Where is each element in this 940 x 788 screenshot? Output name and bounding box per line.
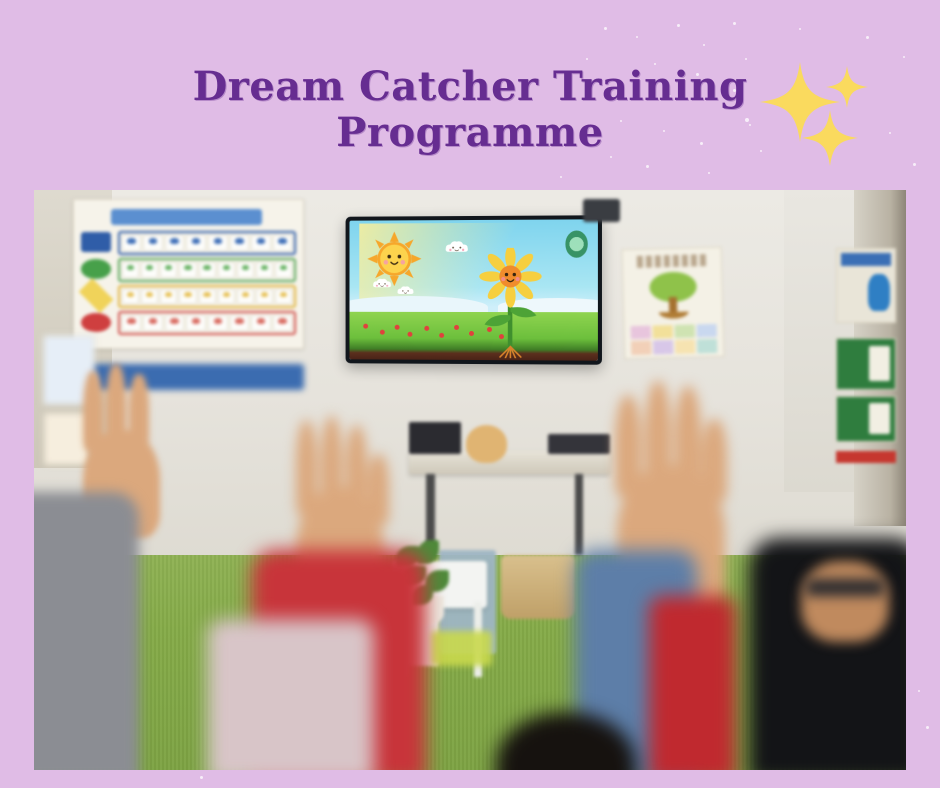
desk-monitor [409,422,461,454]
poster-canvas: Dream Catcher Training Programme [0,0,940,788]
poster-title: Dream Catcher Training Programme [0,64,940,156]
right-poster-1 [836,248,895,323]
chart-badge-yellow [79,278,114,313]
right-poster-2 [836,338,895,390]
desk-leg-right [575,474,584,555]
wall-mounted-tv [345,215,602,364]
teddy-bear [466,425,508,463]
foreground-red-sleeve-right [649,596,736,770]
title-line-2: Programme [0,110,940,156]
right-poster-strip [836,451,895,463]
foreground-left-shoulder [34,492,139,770]
right-poster-3 [836,396,895,442]
tv-corner-logo [565,231,588,258]
tv-sunflower-icon [477,248,542,330]
tv-red-flowers [359,322,507,342]
chart-badge-green [81,259,111,278]
yellow-chair-2 [431,631,492,666]
tv-sun-icon [366,230,422,275]
wicker-basket [501,555,575,619]
participant-foreground-left-plaid [208,619,374,770]
title-line-1: Dream Catcher Training [0,64,940,110]
desk-laptop [548,434,609,454]
chart-badge-red [81,313,111,332]
ceiling-camera [583,199,620,222]
participant-far-right-face [801,561,888,642]
tv-cloud-3 [396,284,416,295]
participant-far-right-glasses [806,579,884,596]
chart-title-bar [111,209,262,225]
workshop-photo [34,190,906,770]
chart-row-green [118,258,297,282]
chart-row-blue [118,231,297,255]
tv-cloud-2 [371,276,393,289]
tv-cloud-1 [442,238,469,253]
classroom-scene [34,190,906,770]
tv-screen [349,219,598,360]
seeding-programme-poster [621,247,724,360]
chart-row-red [118,311,297,335]
chart-badge-blue [81,232,111,251]
classroom-attendance-chart [73,199,304,350]
chart-row-yellow [118,285,297,309]
desk [409,451,610,474]
